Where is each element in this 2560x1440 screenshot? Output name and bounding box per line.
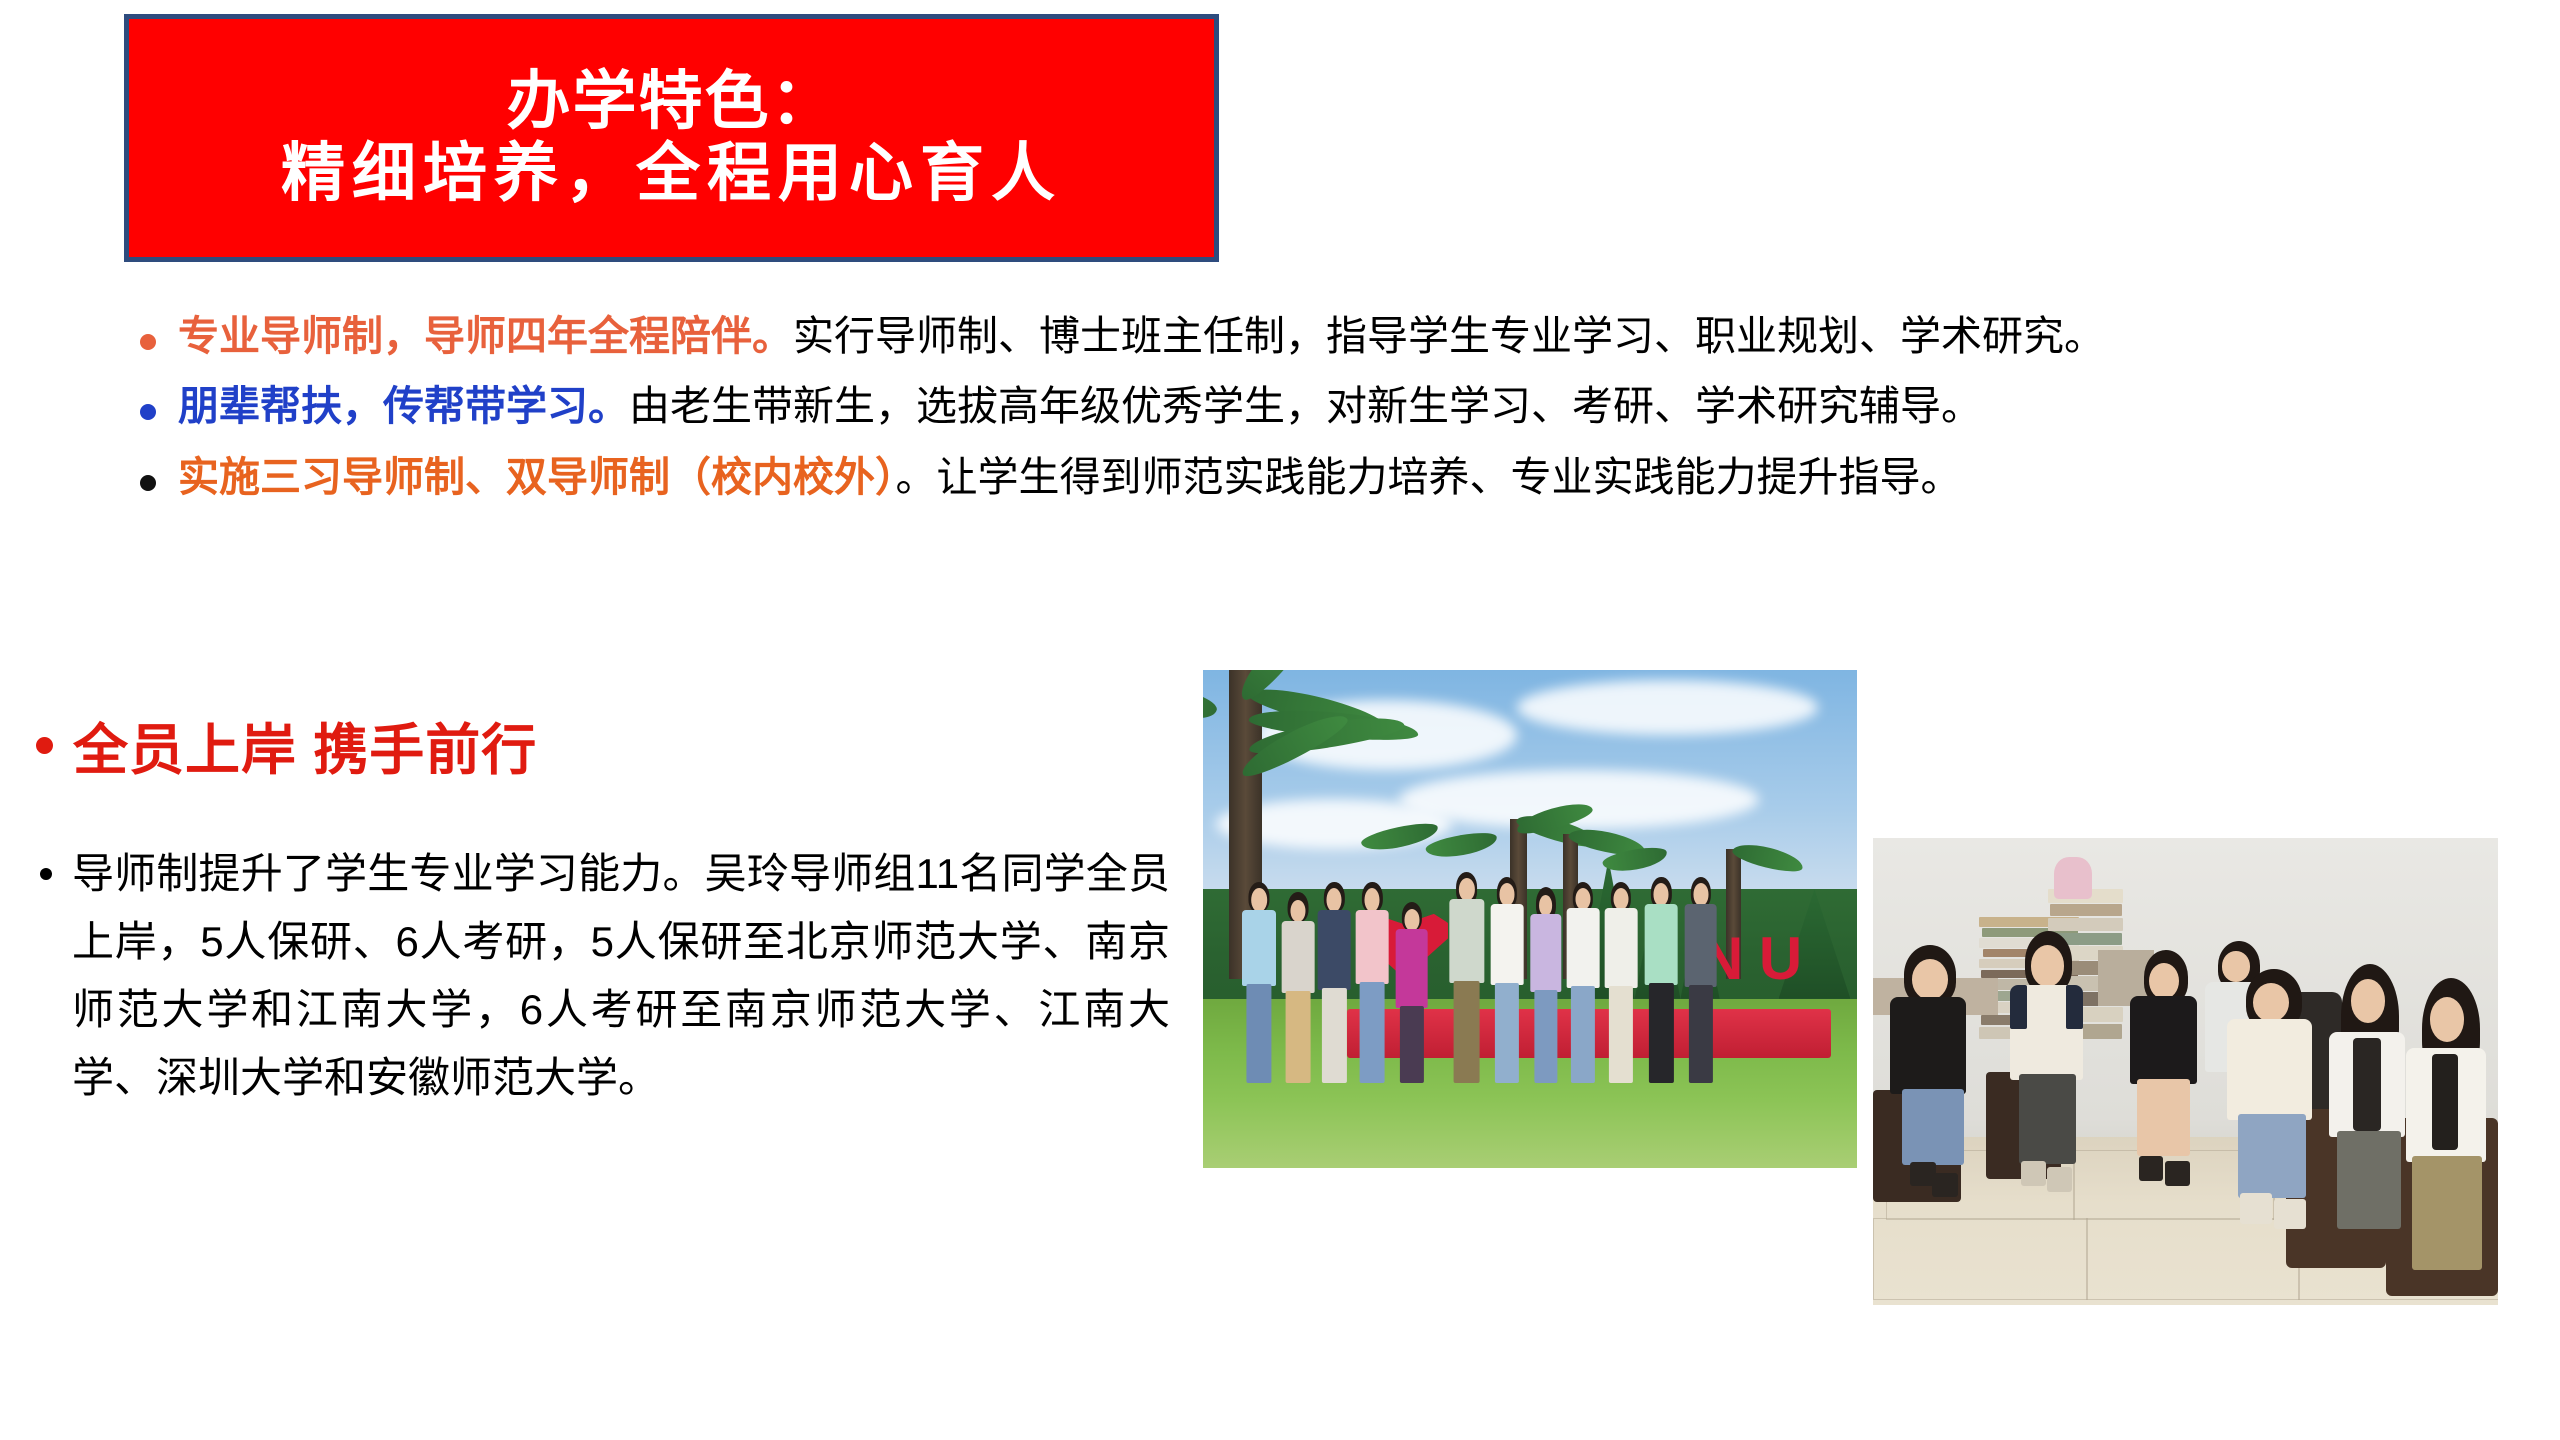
- student: [2404, 978, 2498, 1296]
- achievement-paragraph: 导师制提升了学生专业学习能力。吴玲导师组11名同学全员上岸，5人保研、6人考研，…: [72, 840, 1170, 1112]
- bullet-dot-icon: [140, 475, 156, 491]
- feature-item-mentor-system: 专业导师制，导师四年全程陪伴。实行导师制、博士班主任制，指导学生专业学习、职业规…: [140, 312, 2530, 360]
- feature-item-peer-support: 朋辈帮扶，传帮带学习。由老生带新生，选拔高年级优秀学生，对新生学习、考研、学术研…: [140, 382, 2530, 430]
- feature-lead-text: 专业导师制，导师四年全程陪伴。: [178, 313, 793, 359]
- sign-letter-u: U: [1759, 929, 1802, 989]
- person: [1318, 884, 1351, 1083]
- person: [1395, 904, 1428, 1083]
- feature-item-dual-mentor: 实施三习导师制、双导师制（校内校外）。让学生得到师范实践能力培养、专业实践能力提…: [140, 453, 2530, 501]
- title-banner: 办学特色： 精细培养，全程用心育人: [124, 14, 1219, 262]
- feature-text: 实施三习导师制、双导师制（校内校外）。让学生得到师范实践能力培养、专业实践能力提…: [178, 453, 1962, 501]
- student: [2004, 931, 2098, 1211]
- bullet-dot-icon: [140, 334, 156, 350]
- person: [1567, 884, 1600, 1083]
- person: [1242, 884, 1276, 1083]
- student: [2223, 969, 2329, 1249]
- bullet-dot-icon: [36, 737, 53, 754]
- feature-text: 朋辈帮扶，传帮带学习。由老生带新生，选拔高年级优秀学生，对新生学习、考研、学术研…: [178, 382, 1982, 430]
- cloud: [1399, 770, 1759, 830]
- banner-title-line-1: 办学特色：: [507, 66, 837, 138]
- section-heading: 全员上岸 携手前行: [36, 705, 537, 785]
- bullet-dot-icon: [40, 868, 52, 880]
- person: [1281, 894, 1314, 1083]
- section-heading-text: 全员上岸 携手前行: [73, 705, 537, 785]
- person: [1605, 884, 1638, 1083]
- person: [1645, 879, 1678, 1083]
- person: [1530, 889, 1561, 1083]
- feature-bullet-list: 专业导师制，导师四年全程陪伴。实行导师制、博士班主任制，指导学生专业学习、职业规…: [140, 312, 2530, 523]
- person: [1356, 884, 1389, 1083]
- campus-sign-group-photo: I N U: [1203, 670, 1857, 1168]
- floor-tile: [1873, 1218, 2088, 1301]
- feature-text: 专业导师制，导师四年全程陪伴。实行导师制、博士班主任制，指导学生专业学习、职业规…: [178, 312, 2105, 360]
- flower-bouquet: [2054, 857, 2092, 899]
- feature-rest-text: 由老生带新生，选拔高年级优秀学生，对新生学习、考研、学术研究辅导。: [629, 383, 1982, 429]
- banner-title-line-2: 精细培养，全程用心育人: [281, 138, 1062, 210]
- teacher: [1886, 945, 1986, 1216]
- feature-rest-text: 。让学生得到师范实践能力培养、专业实践能力提升指导。: [896, 454, 1962, 500]
- person: [1449, 874, 1484, 1083]
- bullet-dot-icon: [140, 404, 156, 420]
- achievement-block: 导师制提升了学生专业学习能力。吴玲导师组11名同学全员上岸，5人保研、6人考研，…: [40, 840, 1170, 1112]
- person: [1684, 879, 1717, 1083]
- mentor-meeting-photo: [1873, 838, 2498, 1305]
- feature-lead-text: 朋辈帮扶，传帮带学习。: [178, 383, 629, 429]
- person: [1491, 879, 1524, 1083]
- feature-rest-text: 实行导师制、博士班主任制，指导学生专业学习、职业规划、学术研究。: [793, 313, 2105, 359]
- feature-lead-text: 实施三习导师制、双导师制（校内校外）: [178, 454, 896, 500]
- cloud: [1517, 680, 1818, 735]
